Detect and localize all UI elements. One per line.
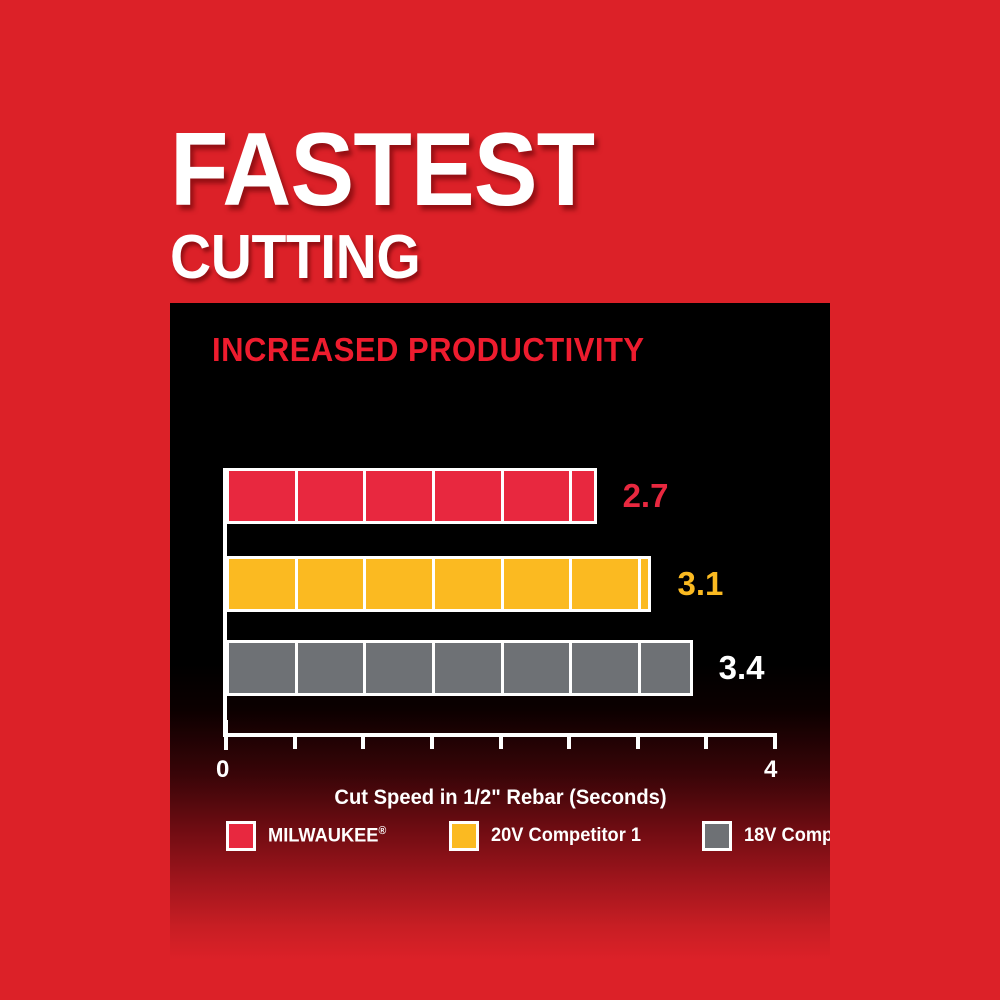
bar-segment [504,643,573,693]
bar-segment [572,643,641,693]
legend-item: 18V Competitor 2 [702,821,830,851]
bar-row: 3.4 [226,640,775,696]
bar-row: 3.1 [226,556,775,612]
x-axis-tick [567,733,571,749]
legend-label: 20V Competitor 1 [491,825,641,847]
x-axis-title: Cut Speed in 1/2" Rebar (Seconds) [237,786,764,810]
bar-segment [504,471,573,521]
x-axis-tick [361,733,365,749]
headline-primary: FASTEST [170,126,814,215]
bar-value-label: 2.7 [623,477,669,515]
bar-value-label: 3.4 [719,649,765,687]
bar-segment [504,559,573,609]
x-axis-tick [499,733,503,749]
legend-item: 20V Competitor 1 [449,821,647,851]
legend-swatch [226,821,256,851]
x-axis-tick [430,733,434,749]
infographic-canvas: FASTEST CUTTING INCREASED PRODUCTIVITY 2… [0,0,1000,1000]
bar-row: 2.7 [226,468,775,524]
bar [226,468,597,524]
bar-segment [435,471,504,521]
bar-segment [298,559,367,609]
plot-area: 2.73.13.4 0 4 Cut Speed in 1/2" Rebar (S… [226,468,775,735]
chart-legend: MILWAUKEE®20V Competitor 118V Competitor… [226,821,806,851]
bar-segment [572,559,641,609]
bar-segment [366,471,435,521]
bar-segment [572,471,596,521]
legend-item: MILWAUKEE® [226,821,391,851]
bar-segment [641,643,693,693]
x-axis-tick [773,733,777,749]
bar [226,640,693,696]
chart-title: INCREASED PRODUCTIVITY [212,331,645,369]
legend-label: MILWAUKEE® [268,825,386,847]
bar [226,556,651,612]
headline-secondary: CUTTING [170,227,814,289]
legend-label: 18V Competitor 2 [744,825,830,847]
bar-segment [435,643,504,693]
bar-segment [298,471,367,521]
bar-value-label: 3.1 [677,565,723,603]
legend-swatch [702,821,732,851]
x-axis-tick [704,733,708,749]
x-axis-tick [224,720,228,750]
x-axis-tick [636,733,640,749]
bar-segment [229,559,298,609]
headline-block: FASTEST CUTTING [170,126,870,289]
x-axis-end-label: 4 [764,756,777,784]
bar-segment [229,643,298,693]
legend-swatch [449,821,479,851]
chart-panel: INCREASED PRODUCTIVITY 2.73.13.4 0 4 Cut… [170,303,830,960]
registered-trademark-icon: ® [378,825,386,837]
bar-segment [366,559,435,609]
bar-segment [435,559,504,609]
bar-segment [298,643,367,693]
x-axis-tick [293,733,297,749]
bar-segment [229,471,298,521]
bar-segment [641,559,652,609]
bar-segment [366,643,435,693]
x-axis-start-label: 0 [216,756,229,784]
